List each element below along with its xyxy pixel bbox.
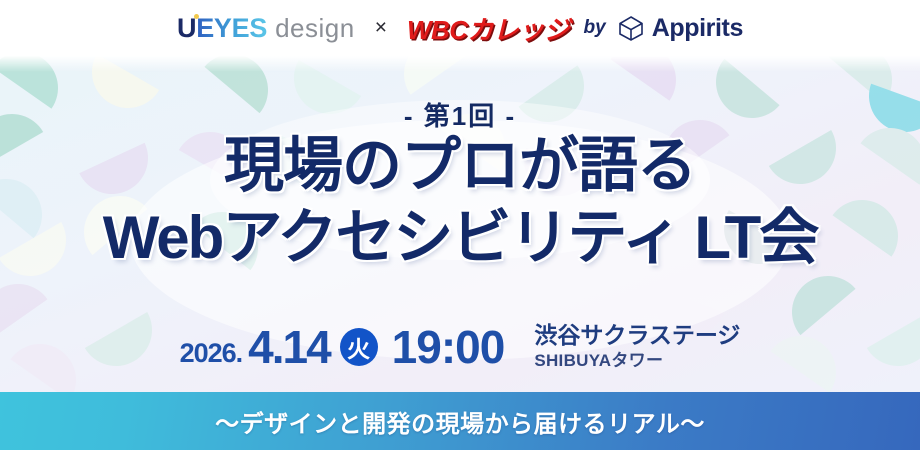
wbc-college-logo: WBCカレッジ	[407, 10, 570, 47]
cube-icon	[618, 15, 644, 41]
date-year: 2026.	[180, 338, 243, 369]
by-label: by	[584, 17, 606, 39]
event-time: 19:00	[392, 320, 505, 374]
venue-block: 渋谷サクラステージ SHIBUYAタワー	[534, 322, 740, 371]
appirits-logo: Appirits	[618, 14, 743, 43]
ueyes-logo-design: design	[275, 13, 355, 44]
weekday-badge: 火	[340, 328, 378, 366]
date-month-day: 4.14	[248, 320, 330, 374]
venue-name: 渋谷サクラステージ	[534, 322, 740, 349]
ueyes-logo-eyes: EYES	[196, 13, 267, 44]
main-content: - 第1回 - 現場のプロが語る Webアクセシビリティ LT会 2026. 4…	[0, 56, 920, 392]
appirits-wordmark: Appirits	[652, 14, 743, 43]
tagline-text: 〜デザインと開発の現場から届けるリアル〜	[215, 404, 705, 439]
title-line-2: Webアクセシビリティ LT会	[0, 208, 920, 268]
event-banner: U EYES design × WBCカレッジ by Appirits - 第1…	[0, 0, 920, 450]
event-date-time: 2026. 4.14 火 19:00	[180, 320, 505, 374]
cross-icon: ×	[375, 16, 387, 40]
tagline-bar: 〜デザインと開発の現場から届けるリアル〜	[0, 392, 920, 450]
header-fade	[0, 56, 920, 72]
ueyes-design-logo: U EYES design	[177, 13, 355, 44]
logo-row: U EYES design × WBCカレッジ by Appirits	[0, 0, 920, 56]
edition-label: - 第1回 -	[0, 96, 920, 133]
ueyes-accent-dot-icon	[194, 14, 199, 19]
venue-building: SHIBUYAタワー	[534, 350, 740, 372]
date-venue-row: 2026. 4.14 火 19:00 渋谷サクラステージ SHIBUYAタワー	[0, 320, 920, 374]
title-line-1: 現場のプロが語る	[0, 136, 920, 196]
